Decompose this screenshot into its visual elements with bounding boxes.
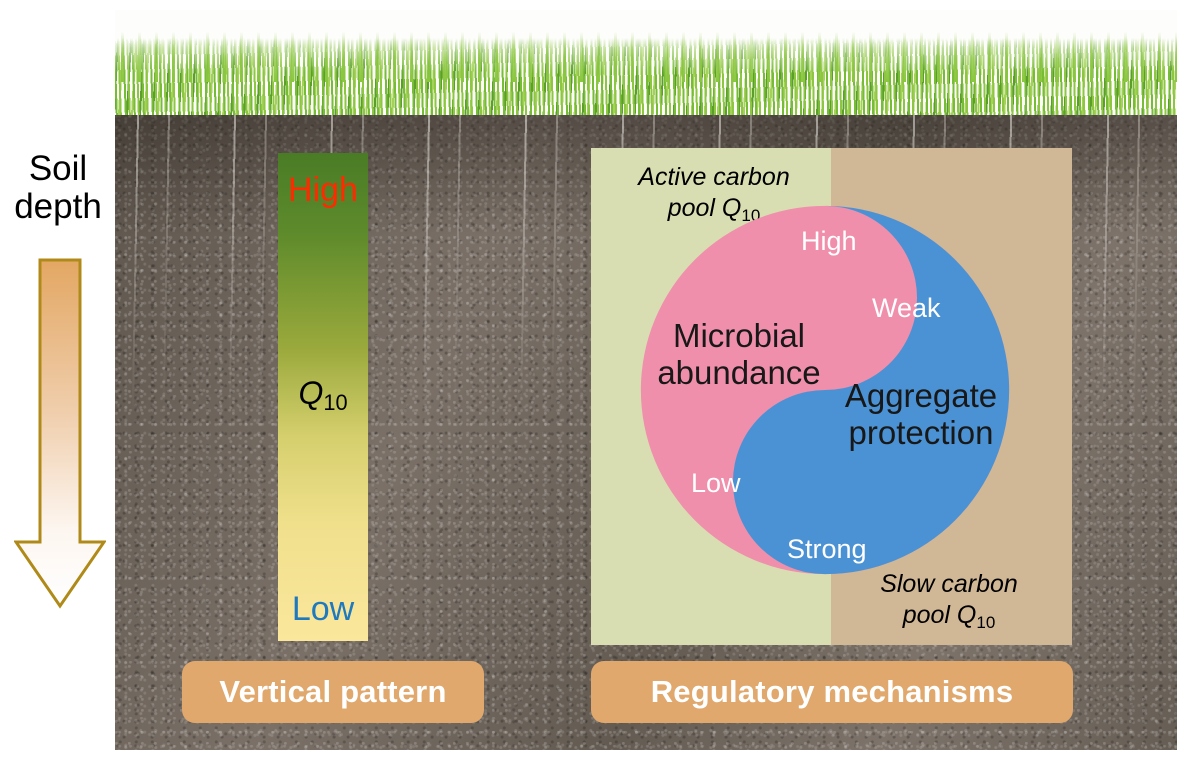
blue-weak-label: Weak <box>872 293 941 324</box>
active-pool-line1: Active carbon <box>599 162 829 193</box>
regulatory-mechanism-panel: Active carbon pool Q10 Slow carbon pool … <box>591 148 1072 645</box>
aggregate-protection-title: Aggregate protection <box>821 378 1021 452</box>
q10-symbol: Q <box>298 375 323 411</box>
down-arrow-icon <box>14 258 106 610</box>
figure-root: Soil depth High Q10 Low Active carbon po… <box>0 0 1177 778</box>
microbial-abundance-line2: abundance <box>633 355 845 392</box>
aggregate-protection-line1: Aggregate <box>821 378 1021 415</box>
soil-depth-label-line2: depth <box>8 188 108 226</box>
q10-gradient-bar: High Q10 Low <box>278 153 368 641</box>
slow-carbon-pool-label: Slow carbon pool Q10 <box>834 569 1064 633</box>
aggregate-protection-line2: protection <box>821 415 1021 452</box>
pink-high-label: High <box>801 226 857 257</box>
soil-depth-label-line1: Soil <box>8 150 108 188</box>
soil-depth-label: Soil depth <box>8 150 108 226</box>
blue-strong-label: Strong <box>787 534 867 565</box>
slow-pool-prefix: pool <box>903 601 957 629</box>
slow-pool-subscript: 10 <box>976 613 995 632</box>
slow-pool-symbol: Q <box>957 601 976 629</box>
microbial-abundance-line1: Microbial <box>633 318 845 355</box>
regulatory-mechanisms-caption: Regulatory mechanisms <box>591 661 1073 723</box>
vertical-pattern-caption: Vertical pattern <box>182 661 484 723</box>
q10-symbol-label: Q10 <box>278 375 368 416</box>
q10-low-label: Low <box>278 590 368 629</box>
q10-high-label: High <box>278 171 368 210</box>
microbial-abundance-title: Microbial abundance <box>633 318 845 392</box>
grass-tips-layer <box>115 32 1177 82</box>
slow-pool-line2: pool Q10 <box>834 600 1064 633</box>
q10-subscript: 10 <box>323 390 347 415</box>
pink-low-label: Low <box>691 468 741 499</box>
